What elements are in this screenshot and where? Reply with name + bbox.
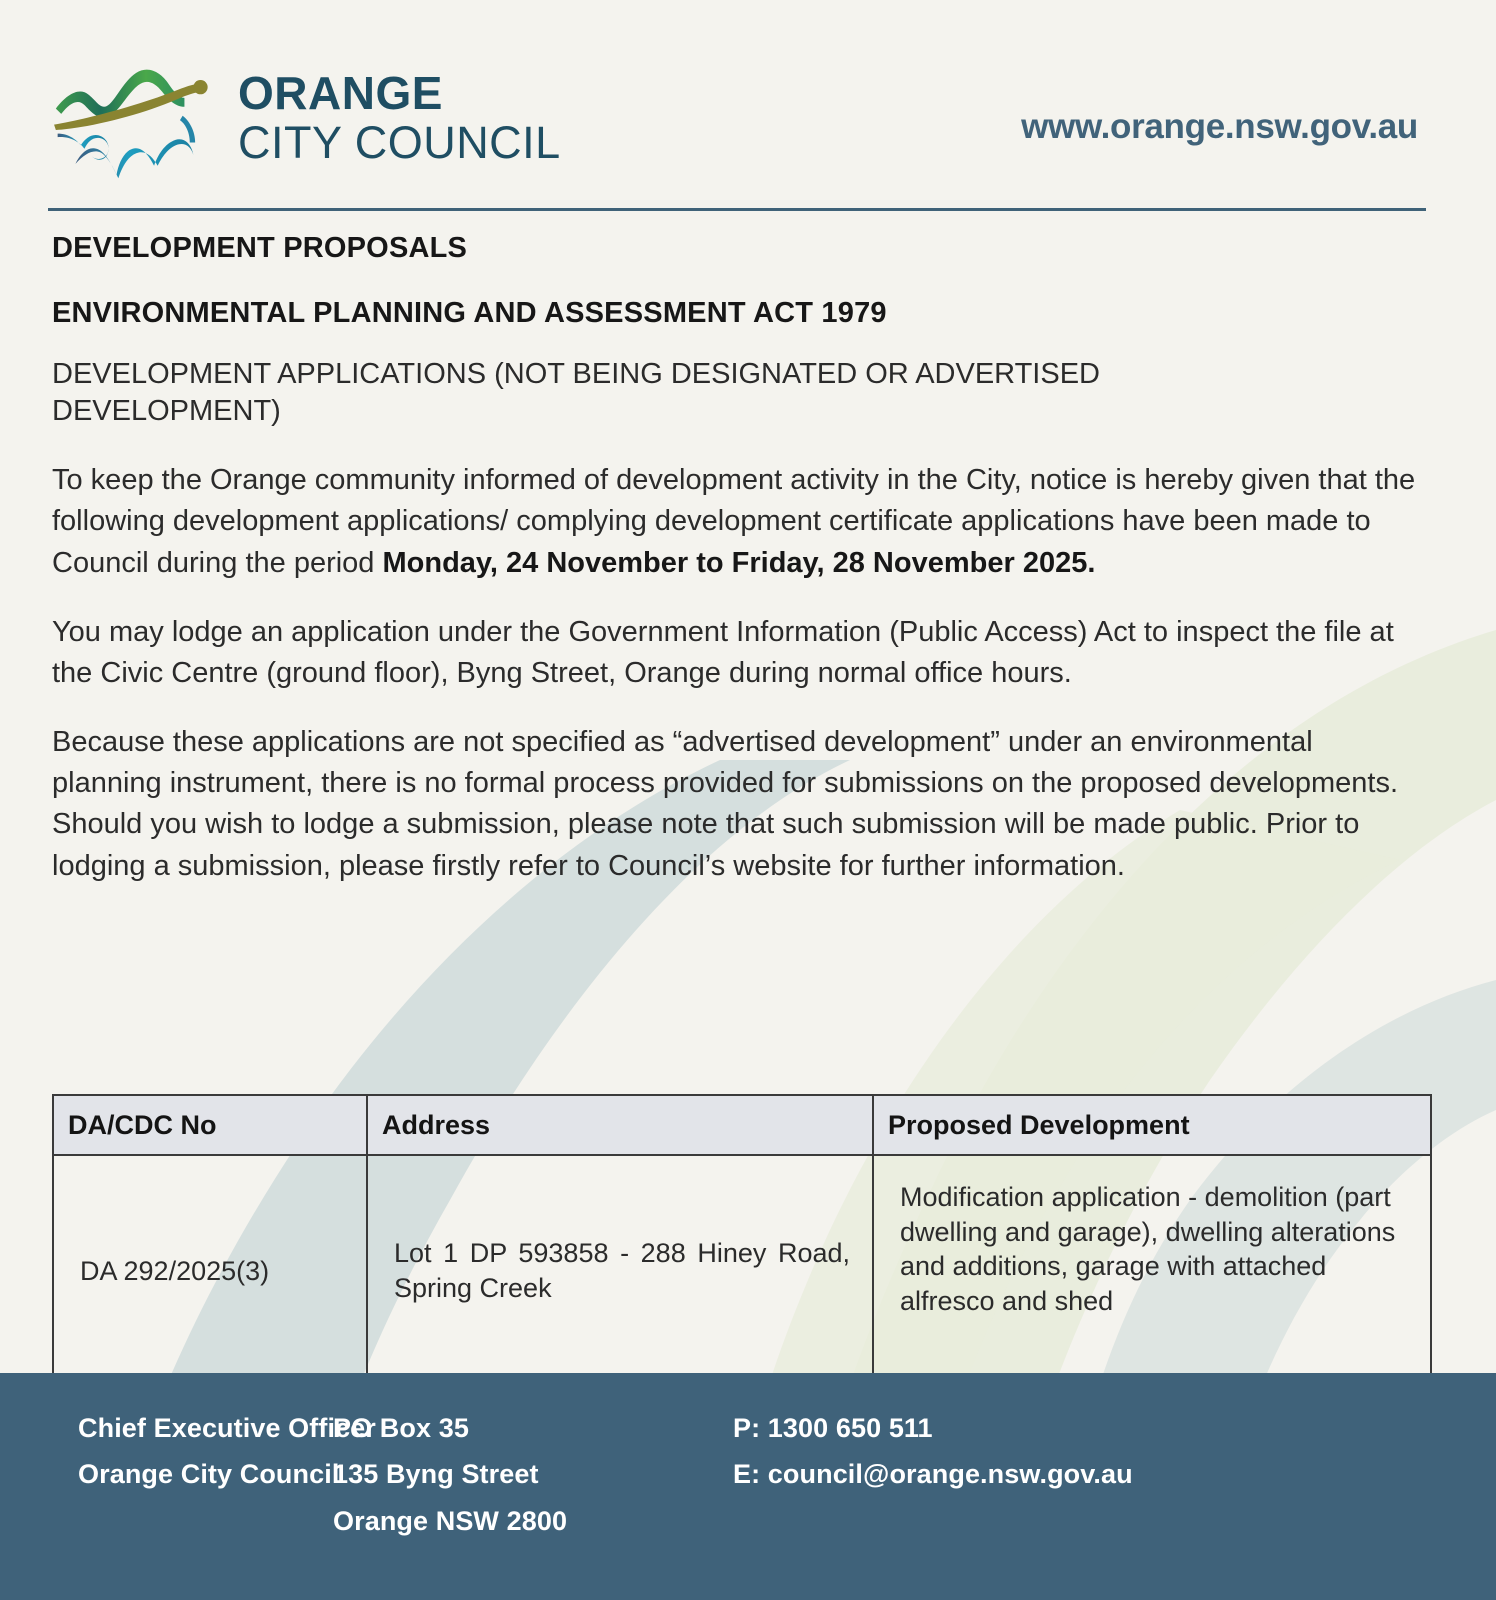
footer-council-name: Orange City Council [78, 1451, 333, 1497]
cell-proposed-development: Modification application - demolition (p… [873, 1155, 1431, 1387]
column-header-address: Address [367, 1095, 873, 1155]
footer-city-state-postcode: Orange NSW 2800 [333, 1498, 733, 1544]
notice-page: ORANGE CITY COUNCIL www.orange.nsw.gov.a… [0, 0, 1496, 1600]
notice-period-dates: Monday, 24 November to Friday, 28 Novemb… [382, 547, 1095, 579]
footer-email[interactable]: E: council@orange.nsw.gov.au [733, 1451, 1293, 1497]
website-url[interactable]: www.orange.nsw.gov.au [1021, 107, 1418, 147]
footer-column-contact: P: 1300 650 511 E: council@orange.nsw.go… [733, 1405, 1293, 1544]
page-header: ORANGE CITY COUNCIL www.orange.nsw.gov.a… [0, 0, 1496, 210]
paragraph-notice-period: To keep the Orange community informed of… [52, 460, 1422, 584]
footer-street-address: 135 Byng Street [333, 1451, 733, 1497]
footer-phone[interactable]: P: 1300 650 511 [733, 1405, 1293, 1451]
footer-column-address: PO Box 35 135 Byng Street Orange NSW 280… [333, 1405, 733, 1544]
table-header-row: DA/CDC No Address Proposed Development [53, 1095, 1431, 1155]
subheading: DEVELOPMENT APPLICATIONS (NOT BEING DESI… [52, 356, 1252, 430]
table-row: DA 292/2025(3) Lot 1 DP 593858 - 288 Hin… [53, 1155, 1431, 1387]
act-heading: ENVIRONMENTAL PLANNING AND ASSESSMENT AC… [52, 297, 1434, 330]
header-divider [48, 208, 1426, 211]
footer-po-box: PO Box 35 [333, 1405, 733, 1451]
cell-address: Lot 1 DP 593858 - 288 Hiney Road, Spring… [367, 1155, 873, 1387]
paragraph-gipa-access: You may lodge an application under the G… [52, 612, 1422, 694]
page-footer: Chief Executive Officer Orange City Coun… [0, 1373, 1496, 1600]
page-title: DEVELOPMENT PROPOSALS [52, 232, 1434, 265]
brand-logo: ORANGE CITY COUNCIL [48, 52, 588, 182]
footer-column-authority: Chief Executive Officer Orange City Coun… [78, 1405, 333, 1544]
orange-city-council-landscape-logo-icon [48, 55, 228, 180]
paragraph-submissions: Because these applications are not speci… [52, 722, 1422, 887]
column-header-da-cdc-no: DA/CDC No [53, 1095, 367, 1155]
column-header-proposed-development: Proposed Development [873, 1095, 1431, 1155]
development-applications-table: DA/CDC No Address Proposed Development D… [52, 1094, 1432, 1388]
notice-body: DEVELOPMENT PROPOSALS ENVIRONMENTAL PLAN… [52, 232, 1434, 915]
brand-line-2: CITY COUNCIL [238, 120, 561, 165]
brand-wordmark: ORANGE CITY COUNCIL [238, 70, 561, 165]
cell-da-cdc-no: DA 292/2025(3) [53, 1155, 367, 1387]
footer-columns: Chief Executive Officer Orange City Coun… [78, 1405, 1293, 1544]
footer-cvo-title: Chief Executive Officer [78, 1405, 333, 1451]
brand-line-1: ORANGE [238, 70, 561, 116]
